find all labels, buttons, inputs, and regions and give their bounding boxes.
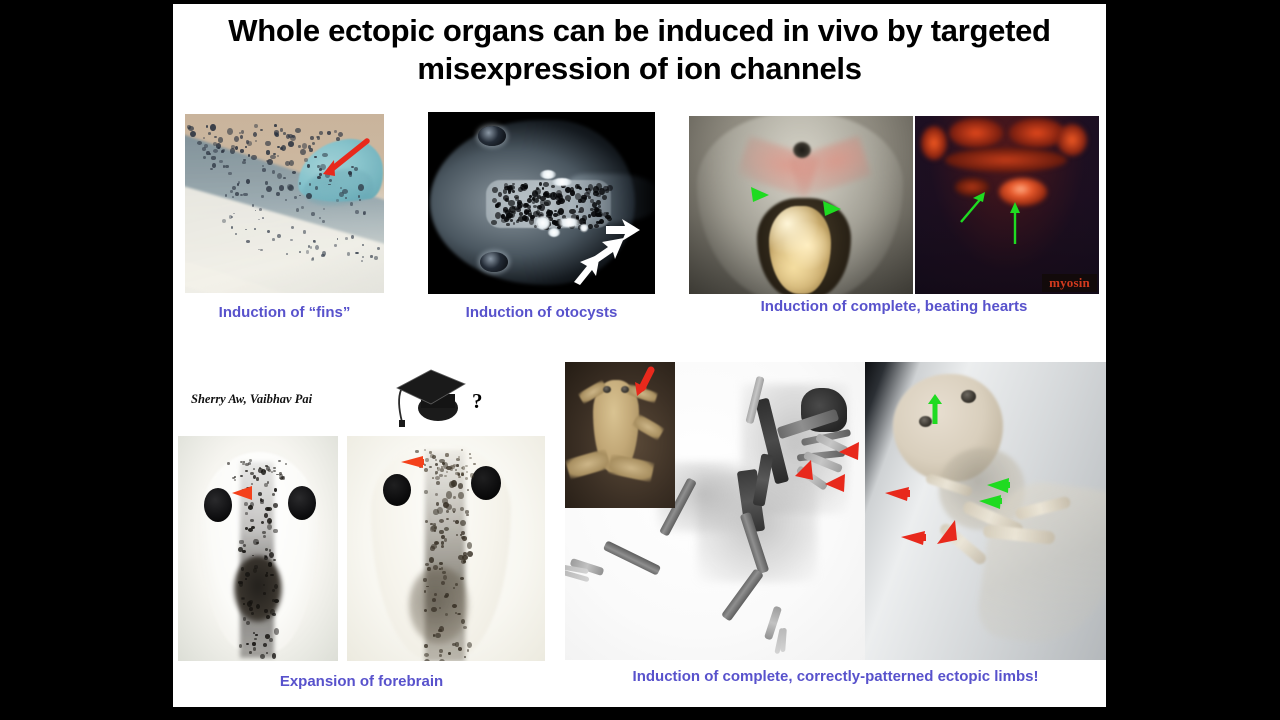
pigment-speck	[253, 647, 256, 650]
pigment-speck	[281, 145, 286, 151]
pigment-speck	[534, 198, 539, 203]
pigment-speck	[594, 224, 599, 228]
pigment-speck	[467, 542, 473, 549]
otocyst-blob-3	[536, 216, 550, 230]
pigment-speck	[252, 204, 255, 207]
pigment-speck	[374, 256, 378, 260]
pigment-speck	[273, 153, 275, 155]
pigment-speck	[255, 634, 257, 637]
pigment-speck	[294, 196, 297, 199]
question-mark: ?	[472, 389, 483, 414]
pigment-speck	[272, 589, 275, 592]
pigment-speck	[232, 186, 236, 190]
red-arrowhead-icon	[935, 518, 961, 552]
pigment-speck	[268, 562, 272, 566]
pigment-speck	[444, 538, 447, 542]
pigment-speck	[446, 491, 452, 498]
author-credit: Sherry Aw, Vaibhav Pai	[191, 392, 312, 407]
pigment-speck	[232, 196, 234, 198]
pigment-speck	[238, 581, 243, 585]
pigment-speck	[233, 213, 235, 214]
pigment-speck	[210, 168, 213, 170]
pigment-speck	[218, 147, 220, 149]
pigment-speck	[439, 654, 442, 657]
pigment-speck	[460, 520, 466, 526]
pigment-speck	[527, 198, 532, 203]
pigment-speck	[283, 177, 285, 179]
pigment-speck	[290, 135, 296, 141]
pigment-speck	[273, 467, 275, 470]
red-arrowhead-icon	[821, 472, 847, 494]
pigment-speck	[239, 644, 242, 648]
figure-forebrain-expanded	[347, 436, 545, 661]
pigment-speck	[437, 507, 443, 514]
pigment-speck	[424, 659, 430, 661]
pigment-speck	[444, 475, 447, 477]
pigment-speck	[240, 149, 245, 153]
pigment-speck	[539, 182, 542, 186]
pigment-speck	[253, 468, 256, 470]
pigment-speck	[439, 626, 444, 632]
pigment-speck	[254, 228, 256, 230]
pigment-speck	[204, 144, 208, 148]
pigment-speck	[274, 488, 277, 492]
pigment-speck	[261, 195, 264, 197]
pigment-speck	[277, 146, 280, 148]
slide-canvas: Whole ectopic organs can be induced in v…	[173, 4, 1106, 707]
pigment-speck	[263, 592, 266, 595]
pigment-speck	[266, 615, 270, 619]
pigment-speck	[339, 192, 343, 197]
pigment-speck	[509, 211, 515, 218]
pigment-speck	[435, 463, 438, 466]
pigment-speck	[288, 141, 294, 146]
gold-yolk-mass	[769, 206, 831, 294]
pigment-speck	[243, 193, 247, 196]
pigment-speck	[242, 161, 245, 164]
pigment-speck	[255, 140, 257, 142]
pigment-speck	[290, 239, 292, 241]
pigment-speck	[436, 502, 439, 506]
pigment-speck	[232, 477, 235, 479]
otocyst-blob-5	[580, 224, 588, 232]
pigment-speck	[524, 185, 527, 189]
pigment-speck	[429, 466, 431, 468]
myosin-signal-5	[945, 148, 1067, 172]
pigment-speck	[230, 148, 235, 154]
pigment-speck	[543, 182, 548, 187]
pigment-speck	[246, 240, 250, 243]
otocyst-blob-1	[540, 170, 556, 179]
pigment-speck	[234, 136, 239, 142]
pigment-speck	[246, 643, 249, 645]
pigment-speck	[424, 644, 428, 648]
pigment-speck	[287, 184, 293, 190]
green-arrow-icon	[955, 188, 991, 226]
pigment-speck	[596, 183, 602, 190]
green-arrow-icon	[1007, 200, 1023, 246]
pigment-speck	[298, 145, 301, 148]
pigment-speck	[211, 156, 215, 159]
pigment-speck	[433, 565, 438, 570]
pigment-speck	[425, 520, 428, 523]
red-arrow-icon	[315, 136, 371, 186]
pigment-speck	[260, 129, 263, 131]
pigment-speck	[264, 556, 268, 560]
pigment-speck	[439, 659, 445, 661]
graduation-cap-icon	[391, 366, 469, 428]
pigment-speck	[466, 471, 468, 473]
pigment-speck	[430, 454, 433, 457]
pigment-speck	[264, 609, 268, 613]
myosin-signal-1	[921, 126, 947, 160]
pigment-speck	[569, 209, 575, 214]
frog-eye-left	[603, 386, 611, 393]
pigment-speck	[458, 492, 463, 498]
figure-induction-of-otocysts	[428, 112, 655, 294]
pigment-speck	[239, 540, 243, 543]
pigment-speck	[248, 528, 253, 532]
pigment-speck	[295, 128, 301, 133]
pigment-speck	[249, 651, 252, 655]
red-arrow-icon	[877, 484, 911, 504]
pigment-speck	[225, 194, 227, 197]
pigment-speck	[467, 551, 473, 557]
pigment-speck	[456, 464, 458, 467]
caption-otocysts: Induction of otocysts	[428, 304, 655, 321]
pigment-speck	[210, 124, 215, 130]
pigment-speck	[542, 187, 545, 190]
pigment-speck	[322, 251, 326, 256]
pigment-speck	[218, 137, 224, 143]
pigment-speck	[280, 128, 283, 131]
pigment-speck	[351, 235, 354, 239]
pigment-speck	[362, 256, 364, 258]
green-arrowhead-icon	[975, 490, 1003, 512]
pigment-speck	[253, 568, 257, 573]
pigment-speck	[245, 572, 250, 577]
pigment-speck	[206, 125, 208, 128]
figure-ectopic-limb-radiograph	[565, 362, 865, 660]
pigment-speck	[439, 474, 443, 477]
pigment-speck	[240, 135, 243, 139]
pigment-speck	[350, 202, 353, 206]
pigment-speck	[424, 653, 429, 657]
pigment-speck	[260, 249, 262, 251]
pigment-speck	[265, 141, 271, 147]
pigment-speck	[436, 481, 440, 485]
pigment-speck	[311, 212, 315, 215]
pigment-speck	[190, 131, 196, 137]
pigment-speck	[334, 130, 337, 133]
pigment-speck	[466, 514, 468, 517]
pigment-speck	[249, 607, 253, 611]
pigment-speck	[243, 159, 245, 161]
figure-forebrain-control	[178, 436, 338, 661]
pigment-speck	[264, 483, 268, 487]
pigment-speck	[435, 473, 437, 475]
pigment-speck	[258, 492, 262, 496]
pigment-speck	[446, 510, 448, 512]
pigment-speck	[370, 255, 372, 257]
pigment-speck	[590, 208, 593, 211]
pigment-speck	[519, 212, 523, 216]
pigment-speck	[265, 574, 268, 577]
pigment-speck	[315, 186, 318, 190]
pigment-speck	[296, 208, 299, 212]
pigment-speck	[264, 470, 266, 472]
pigment-speck	[424, 609, 427, 612]
pigment-speck	[262, 217, 264, 219]
page-title: Whole ectopic organs can be induced in v…	[173, 12, 1106, 88]
pigment-speck	[240, 475, 243, 477]
pigment-speck	[456, 458, 459, 461]
pigment-speck	[430, 546, 434, 550]
pigment-speck	[286, 134, 290, 139]
pigment-speck	[345, 237, 348, 240]
pigment-speck	[247, 601, 252, 607]
pigment-speck	[276, 192, 279, 196]
pigment-speck	[504, 217, 509, 222]
pigment-speck	[362, 244, 364, 246]
pigment-speck	[256, 477, 259, 481]
pigment-speck	[470, 473, 474, 478]
eye-right	[288, 486, 316, 520]
pigment-speck	[463, 552, 467, 555]
pigment-speck	[443, 502, 449, 508]
pigment-speck	[506, 223, 509, 227]
eye-left	[478, 126, 506, 146]
pigment-speck	[253, 632, 255, 634]
pigment-speck	[515, 197, 519, 201]
pigment-speck	[206, 151, 210, 154]
pigment-speck	[265, 507, 270, 511]
caption-fins: Induction of “fins”	[185, 304, 384, 321]
pigment-speck	[274, 124, 277, 127]
eye-right	[471, 466, 501, 500]
pigment-speck	[467, 489, 469, 491]
pigment-speck	[222, 219, 226, 223]
red-arrowhead-icon	[835, 440, 861, 462]
pigment-speck	[431, 525, 437, 532]
pigment-speck	[424, 490, 427, 494]
pigment-speck	[299, 182, 301, 184]
green-arrowhead-icon	[749, 184, 771, 204]
pigment-speck	[530, 216, 534, 220]
pigment-speck	[439, 649, 443, 653]
pigment-speck	[429, 451, 432, 453]
pigment-speck	[319, 217, 321, 219]
pigment-speck	[575, 193, 581, 199]
pigment-speck	[272, 238, 275, 241]
pigment-speck	[443, 575, 447, 580]
pigment-speck	[591, 211, 597, 217]
pigment-speck	[452, 604, 457, 608]
frog-eye-right	[621, 386, 629, 393]
pigment-speck	[431, 607, 437, 612]
pigment-speck	[267, 230, 270, 233]
pigment-speck	[269, 521, 271, 523]
figure-beating-heart-brightfield	[689, 116, 913, 294]
pigment-speck	[457, 472, 461, 476]
pigment-speck	[258, 468, 263, 472]
pigment-speck	[265, 465, 267, 468]
pigment-speck	[425, 458, 428, 462]
pigment-speck	[427, 567, 431, 572]
pigment-speck	[556, 200, 561, 205]
pigment-speck	[508, 189, 512, 193]
eye-right	[480, 252, 508, 272]
pigment-speck	[235, 192, 239, 196]
pigment-speck	[245, 470, 248, 473]
pigment-speck	[285, 199, 287, 201]
pigment-speck	[433, 634, 435, 636]
pigment-speck	[327, 131, 332, 135]
tadpole-eye-right	[961, 390, 976, 403]
pigment-speck	[260, 654, 265, 659]
pigment-speck	[310, 136, 314, 140]
pigment-speck	[453, 464, 455, 466]
pigment-speck	[435, 459, 437, 461]
red-arrow-icon	[895, 528, 927, 548]
red-arrow-icon	[631, 366, 659, 400]
pigment-speck	[273, 529, 277, 533]
pigment-speck	[197, 141, 202, 145]
pigment-speck	[227, 128, 233, 135]
white-arrow-icon	[568, 252, 604, 286]
pigment-speck	[212, 163, 216, 167]
pigment-speck	[460, 507, 464, 511]
pigment-speck	[423, 578, 427, 581]
pigment-speck	[245, 578, 247, 580]
frog-hindlimb-right	[607, 454, 654, 483]
figure-tadpole-ectopic-limbs	[865, 362, 1106, 660]
pigment-speck	[356, 252, 358, 254]
pigment-speck	[228, 172, 231, 175]
caption-hearts: Induction of complete, beating hearts	[689, 298, 1099, 315]
pigment-speck	[270, 574, 274, 577]
pigment-speck	[435, 633, 440, 638]
pigment-speck	[565, 195, 571, 200]
pigment-speck	[227, 462, 230, 465]
pigment-speck	[281, 476, 284, 479]
pigment-speck	[358, 195, 360, 197]
pigment-speck	[492, 187, 497, 193]
green-arrowhead-icon	[821, 198, 843, 218]
pigment-speck	[453, 511, 455, 513]
pigment-speck	[469, 453, 471, 455]
pigment-speck	[441, 466, 444, 468]
pigment-speck	[504, 183, 509, 188]
pigment-speck	[306, 250, 309, 253]
pigment-speck	[495, 212, 501, 219]
pigment-speck	[315, 245, 319, 250]
green-arrow-icon	[927, 392, 943, 426]
red-arrowhead-icon	[395, 452, 425, 472]
figure-myosin-fluorescence: myosin	[915, 116, 1099, 294]
pigment-speck	[273, 559, 276, 561]
pigment-speck	[445, 593, 449, 597]
myosin-label: myosin	[1042, 274, 1097, 292]
pigment-speck	[299, 251, 301, 253]
pigment-speck	[254, 638, 256, 640]
otocyst-blob-2	[552, 178, 572, 186]
pigment-speck	[300, 149, 306, 155]
pigment-speck	[460, 577, 464, 581]
pigment-speck	[435, 476, 440, 480]
pigment-speck	[467, 649, 469, 652]
pigment-speck	[457, 613, 459, 615]
pigment-speck	[446, 471, 448, 473]
red-arrowhead-icon	[793, 458, 817, 484]
pigment-speck	[603, 186, 609, 192]
otocyst-blob-6	[548, 228, 560, 237]
pigment-speck	[248, 505, 253, 510]
pigment-speck	[283, 132, 286, 135]
pigment-speck	[277, 234, 281, 238]
pigment-speck	[503, 195, 509, 201]
pigment-speck	[508, 200, 514, 206]
frog-photo-inset	[565, 362, 675, 508]
pigment-speck	[303, 230, 306, 233]
pigment-speck	[275, 133, 279, 137]
pigment-speck	[244, 502, 248, 506]
figure-induction-of-fins	[185, 114, 384, 293]
pigment-speck	[441, 545, 444, 548]
pigment-speck	[229, 215, 232, 218]
red-arrowhead-icon	[228, 484, 254, 502]
pigment-speck	[334, 244, 338, 247]
pigment-speck	[304, 158, 308, 161]
pigment-speck	[245, 463, 249, 467]
pigment-speck	[230, 190, 233, 193]
eye-left	[383, 474, 411, 506]
pigment-speck	[498, 192, 502, 197]
screen: Whole ectopic organs can be induced in v…	[0, 0, 1280, 720]
pigment-speck	[445, 453, 449, 456]
pigment-speck	[458, 483, 463, 489]
pigment-speck	[322, 220, 324, 223]
dark-pigment-spot	[793, 142, 811, 158]
pigment-speck	[265, 181, 269, 185]
pigment-speck	[252, 642, 256, 647]
myosin-signal-2	[949, 118, 1003, 148]
pigment-speck	[266, 186, 272, 192]
pigment-speck	[473, 463, 475, 466]
pigment-speck	[241, 130, 244, 134]
pigment-speck	[455, 520, 459, 524]
pigment-speck	[551, 185, 555, 188]
pigment-speck	[582, 215, 587, 220]
pigment-speck	[446, 518, 449, 520]
myosin-signal-4	[1057, 124, 1087, 156]
pigment-speck	[430, 523, 432, 525]
pigment-speck	[579, 207, 584, 212]
pigment-speck	[440, 468, 444, 472]
pigment-speck	[214, 136, 217, 138]
pigment-speck	[262, 168, 266, 171]
frog-hindlimb-left	[565, 449, 611, 480]
otocyst-blob-4	[558, 218, 580, 227]
caption-forebrain: Expansion of forebrain	[178, 673, 545, 690]
pigment-speck	[455, 642, 459, 646]
caption-limbs: Induction of complete, correctly-pattern…	[565, 668, 1106, 685]
